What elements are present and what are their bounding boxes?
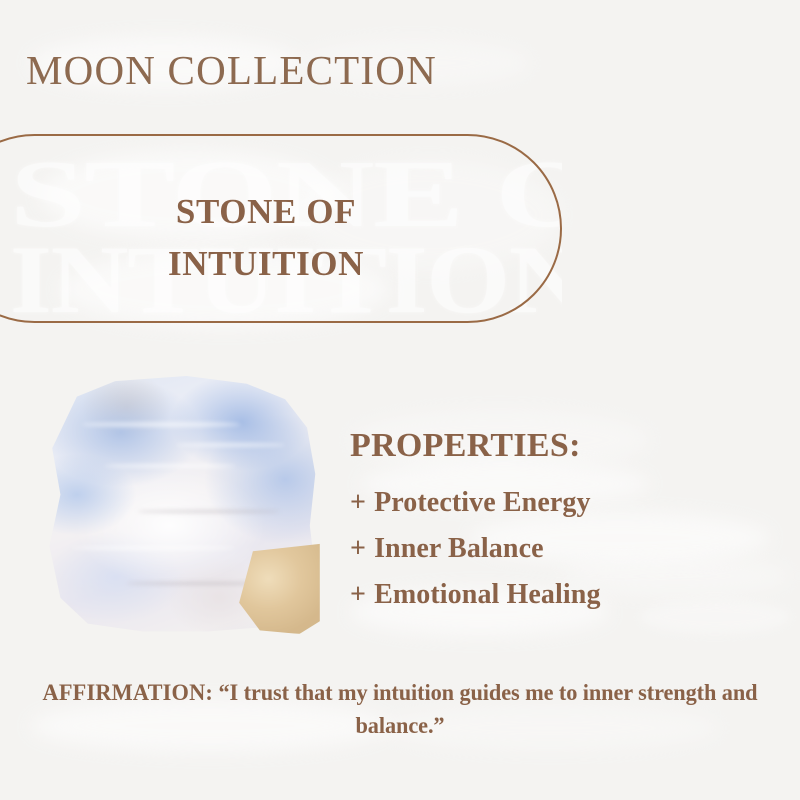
affirmation-quote: “I trust that my intuition guides me to … [218, 680, 757, 738]
moonstone-image [44, 376, 318, 634]
stone-name-line-1: STONE OF [92, 186, 440, 238]
plus-icon: + [350, 579, 366, 610]
properties-section: PROPERTIES: +Protective Energy +Inner Ba… [350, 428, 770, 618]
property-list-item: +Protective Energy [350, 480, 770, 526]
affirmation-text: AFFIRMATION: “I trust that my intuition … [41, 676, 759, 742]
plus-icon: + [350, 533, 366, 564]
properties-heading: PROPERTIES: [350, 428, 770, 464]
stone-striation [176, 443, 286, 447]
stone-striation [71, 546, 235, 550]
crystal-info-card: MOON COLLECTION STONE OF INTUITION STONE… [0, 0, 800, 800]
property-list-item: +Inner Balance [350, 526, 770, 572]
property-label: Inner Balance [374, 533, 544, 564]
page-title: MOON COLLECTION [26, 46, 437, 94]
stone-name-heading: STONE OF INTUITION [92, 186, 440, 290]
affirmation-label: AFFIRMATION: [43, 680, 213, 705]
stone-striation [104, 464, 236, 468]
plus-icon: + [350, 487, 366, 518]
property-label: Protective Energy [374, 487, 591, 518]
property-list-item: +Emotional Healing [350, 572, 770, 618]
stone-striation [82, 422, 241, 427]
stone-name-line-2: INTUITION [92, 238, 440, 290]
property-label: Emotional Healing [374, 579, 601, 610]
stone-striation [137, 510, 279, 513]
